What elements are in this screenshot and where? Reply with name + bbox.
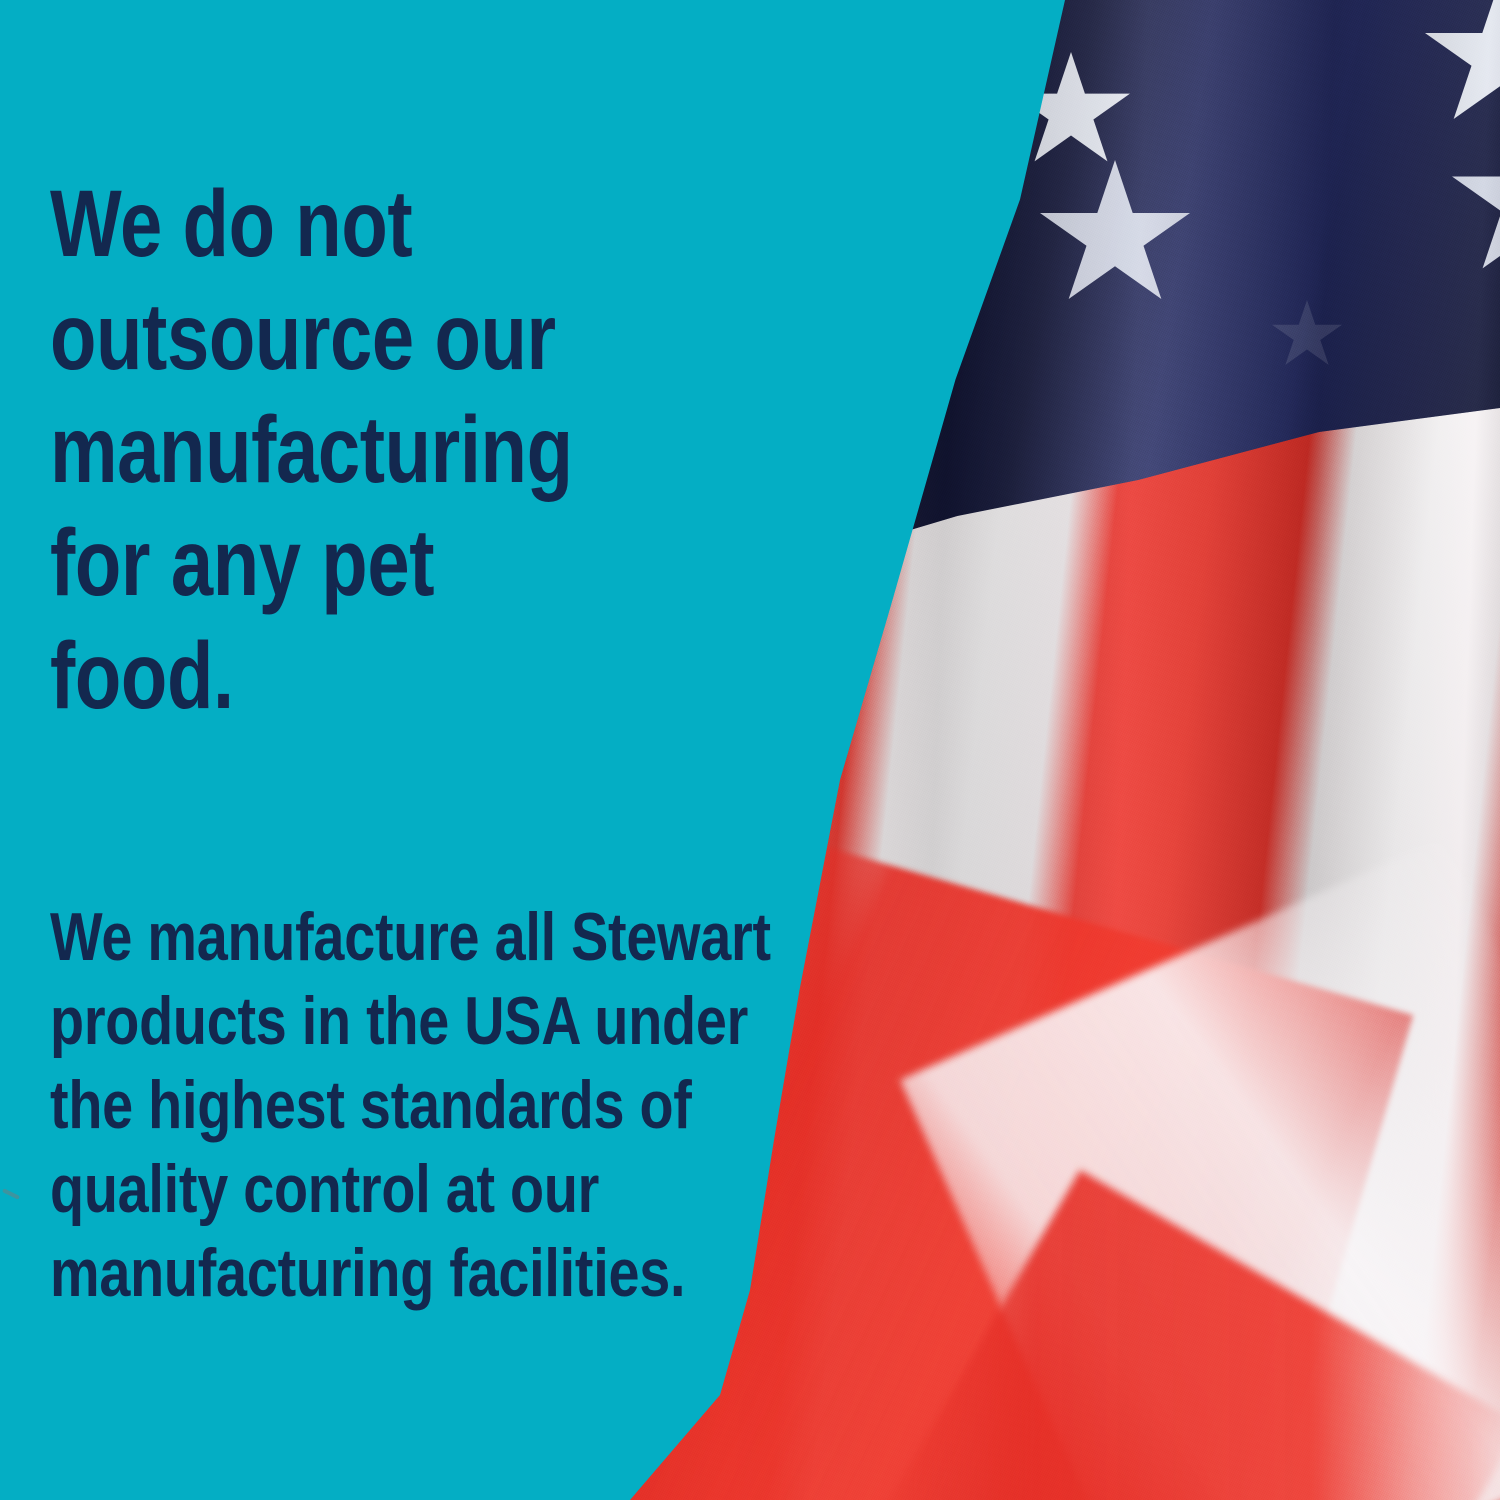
body-paragraph-text: We manufacture all Stewart products in t… (50, 895, 788, 1315)
headline-text: We do not outsource our manufacturing fo… (50, 168, 578, 733)
poster-canvas: We do not outsource our manufacturing fo… (0, 0, 1500, 1500)
